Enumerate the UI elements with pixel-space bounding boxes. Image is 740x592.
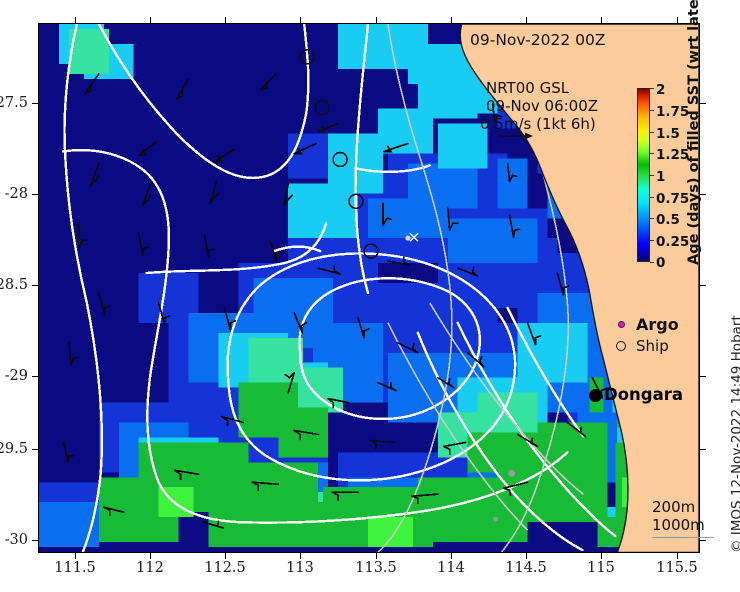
y-tick [32, 376, 38, 377]
bathy-label-200m: 200m [652, 498, 714, 516]
x-tick [150, 553, 151, 559]
x-tick [451, 553, 452, 559]
colorbar-tick [650, 132, 654, 133]
bathy-key-rule [652, 537, 714, 538]
sst-age-raster [39, 24, 699, 552]
x-tick [300, 553, 301, 559]
map-legend: Argo Ship [612, 313, 679, 357]
y-tick-right [700, 285, 706, 286]
y-tick [32, 285, 38, 286]
ship-marker-icon [612, 341, 630, 351]
argo-marker-icon [612, 321, 630, 328]
product-name-label: NRT00 GSL [486, 79, 569, 97]
dongara-place-label: Dongara [604, 385, 683, 404]
x-tick-top [75, 17, 76, 23]
y-tick [32, 540, 38, 541]
y-tick [32, 194, 38, 195]
colorbar-tick-label: 1 [656, 169, 665, 185]
bathymetry-scale-key: 200m 1000m [652, 498, 714, 538]
x-tick [601, 553, 602, 559]
y-axis-label: -27.5 [0, 95, 28, 111]
figure-canvas: 111.5 112 112.5 113 113.5 114 114.5 115 … [0, 0, 740, 592]
legend-item-ship[interactable]: Ship [612, 335, 679, 357]
bathy-label-1000m: 1000m [652, 516, 714, 534]
y-axis-label: -30 [5, 532, 28, 548]
x-tick-top [677, 17, 678, 23]
colorbar-tick [650, 175, 654, 176]
date-stamp-label: 09-Nov-2022 00Z [470, 31, 605, 49]
x-axis-label: 114.5 [505, 560, 547, 576]
x-axis-label: 112.5 [204, 560, 246, 576]
x-tick-top [451, 17, 452, 23]
x-axis-label: 112 [136, 560, 164, 576]
x-axis-label: 114 [437, 560, 465, 576]
colorbar-tick-label: 1.25 [656, 147, 689, 163]
x-tick [526, 553, 527, 559]
colorbar-tick [650, 218, 654, 219]
colorbar-tick-label: 2 [656, 82, 665, 98]
y-axis-label: -29 [5, 368, 28, 384]
colorbar-tick [650, 262, 654, 263]
x-tick [75, 553, 76, 559]
y-axis-label: -28 [5, 186, 28, 202]
colorbar-title: Age (days) of filled SST (wrt latest) [686, 0, 702, 265]
colorbar-gradient [637, 88, 650, 262]
x-axis-label: 115.5 [656, 560, 698, 576]
y-axis-label: -29.5 [0, 441, 28, 457]
colorbar-tick [650, 110, 654, 111]
y-tick [32, 103, 38, 104]
product-time-label: 09-Nov 06:00Z [486, 97, 598, 115]
y-tick-right [700, 540, 706, 541]
x-axis-label: 115 [587, 560, 615, 576]
colorbar-tick-label: 1.75 [656, 104, 689, 120]
colorbar-tick-label: 0.5 [656, 212, 680, 228]
colorbar-tick [650, 240, 654, 241]
y-tick-right [700, 376, 706, 377]
legend-label-argo: Argo [636, 315, 679, 334]
legend-label-ship: Ship [636, 337, 669, 355]
dongara-marker-dot [589, 389, 602, 402]
colorbar-tick [650, 197, 654, 198]
legend-item-argo[interactable]: Argo [612, 313, 679, 335]
x-tick-top [376, 17, 377, 23]
y-axis-label: -28.5 [0, 277, 28, 293]
velocity-scale-label: 0.5m/s (1kt 6h) [480, 115, 596, 133]
colorbar-tick [650, 88, 654, 89]
x-tick [376, 553, 377, 559]
y-tick [32, 449, 38, 450]
colorbar-tick-label: 1.5 [656, 126, 680, 142]
x-tick-top [150, 17, 151, 23]
x-axis-label: 111.5 [54, 560, 96, 576]
x-tick-top [300, 17, 301, 23]
x-tick-top [526, 17, 527, 23]
velocity-scale-arrow-icon [499, 131, 533, 141]
colorbar-tick [650, 153, 654, 154]
x-tick-top [225, 17, 226, 23]
x-axis-label: 113 [286, 560, 314, 576]
x-tick [225, 553, 226, 559]
y-tick-right [700, 449, 706, 450]
colorbar-tick-label: 0.75 [656, 191, 689, 207]
x-axis-label: 113.5 [355, 560, 397, 576]
x-tick [677, 553, 678, 559]
colorbar-tick-label: 0 [656, 255, 665, 271]
x-tick-top [601, 17, 602, 23]
colorbar-tick-label: 0.25 [656, 234, 689, 250]
copyright-label: © IMOS 12-Nov-2022 14:49 Hobart [729, 315, 740, 553]
map-plot-area[interactable] [38, 23, 700, 553]
